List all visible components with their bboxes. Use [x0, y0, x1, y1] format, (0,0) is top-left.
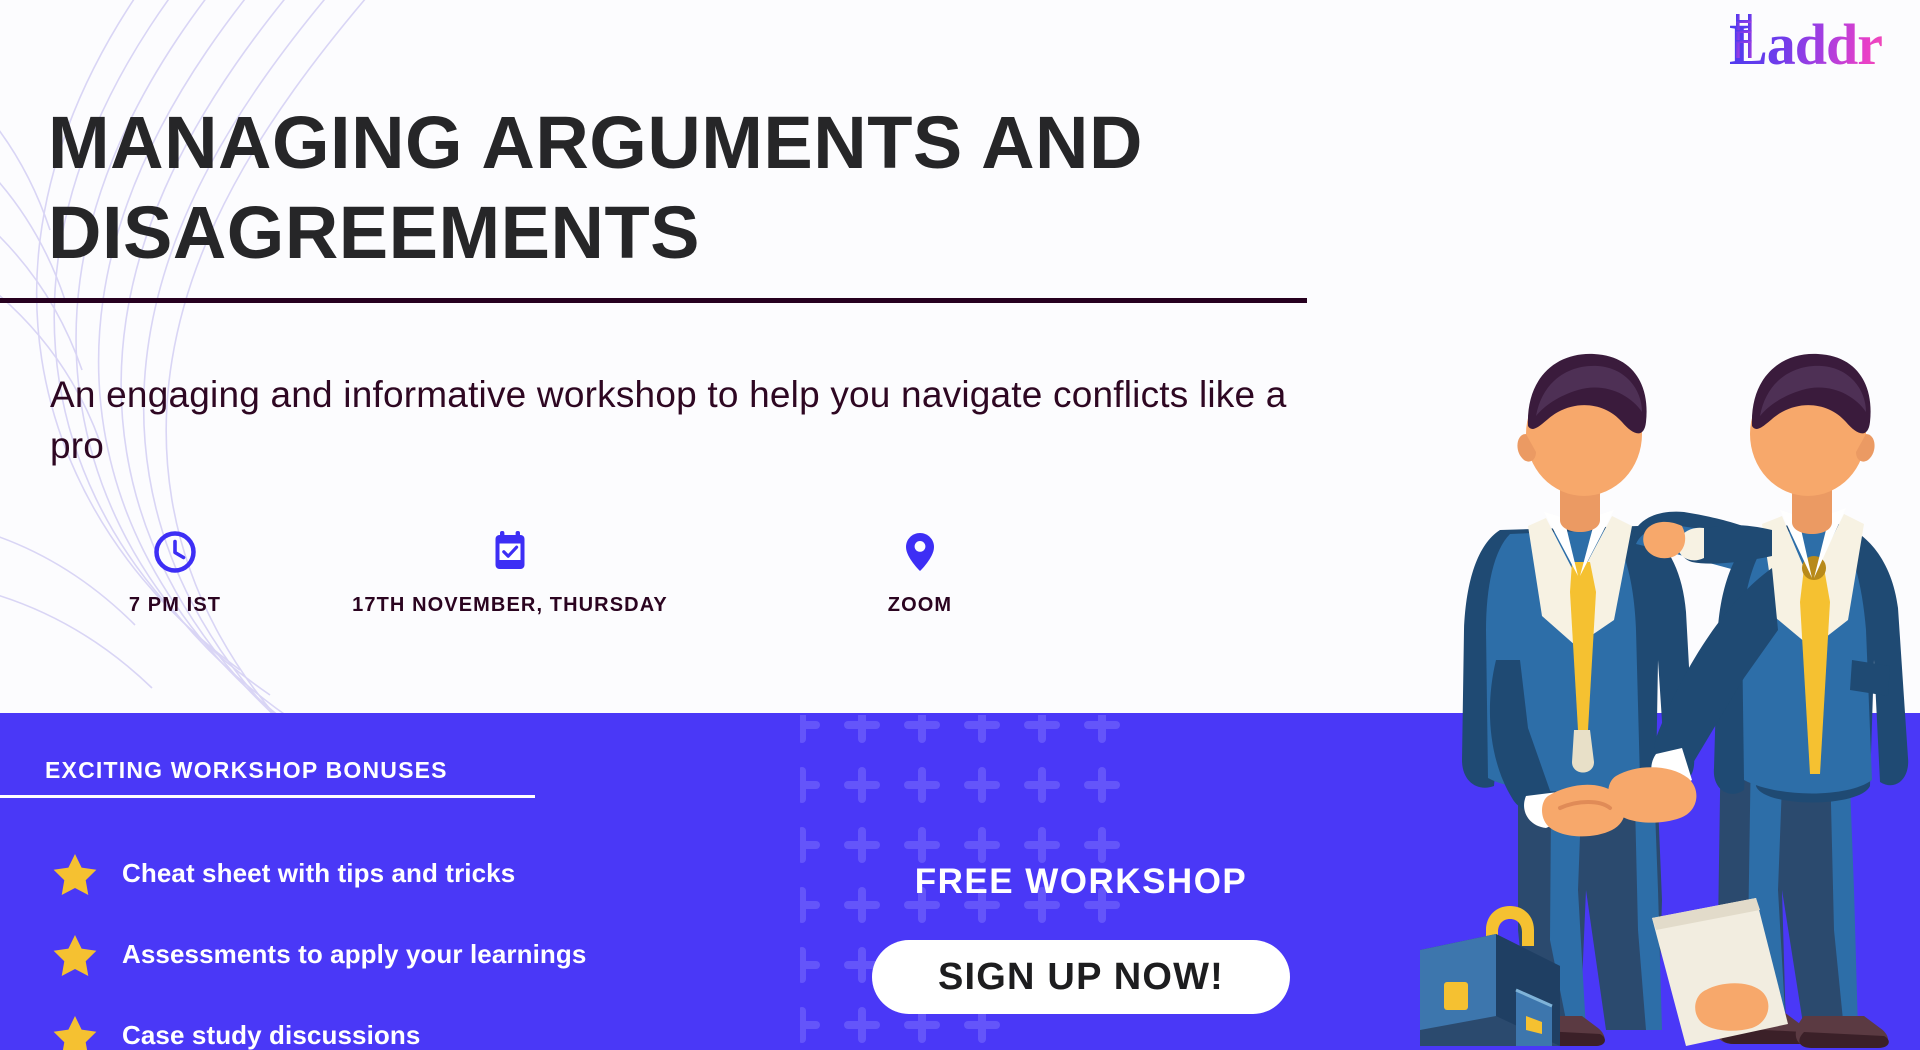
bonuses-list: Cheat sheet with tips and tricks Assessm…	[52, 833, 586, 1050]
list-item-label: Case study discussions	[122, 1020, 420, 1050]
meta-label-date: 17TH NOVEMBER, THURSDAY	[352, 592, 668, 620]
event-meta-row: 7 PM IST 17TH NOVEMBER, THURSDAY	[40, 528, 1200, 620]
star-icon	[52, 851, 98, 897]
workshop-promo-poster: Laddr MANAGING ARGUMENTS AND DISAGREEMEN…	[0, 0, 1920, 1050]
list-item-label: Cheat sheet with tips and tricks	[122, 858, 515, 889]
meta-label-location: ZOOM	[888, 592, 952, 620]
list-item: Cheat sheet with tips and tricks	[52, 833, 586, 914]
list-item: Case study discussions	[52, 995, 586, 1050]
clock-icon	[152, 528, 198, 576]
calendar-check-icon	[487, 528, 533, 576]
brand-logo[interactable]: Laddr	[1729, 16, 1882, 74]
sign-up-button[interactable]: SIGN UP NOW!	[872, 940, 1290, 1014]
page-title: MANAGING ARGUMENTS AND DISAGREEMENTS	[48, 98, 1338, 279]
location-pin-icon	[897, 528, 943, 576]
list-item: Assessments to apply your learnings	[52, 914, 586, 995]
meta-label-time: 7 PM IST	[129, 592, 221, 620]
ladder-icon	[1732, 14, 1758, 58]
meta-item-location: ZOOM	[710, 528, 1130, 620]
list-item-label: Assessments to apply your learnings	[122, 939, 586, 970]
meta-item-time: 7 PM IST	[40, 528, 310, 620]
bonuses-heading: EXCITING WORKSHOP BONUSES	[45, 757, 448, 784]
star-icon	[52, 932, 98, 978]
page-subtitle: An engaging and informative workshop to …	[50, 369, 1300, 471]
cta-heading: FREE WORKSHOP	[896, 862, 1266, 902]
title-divider	[0, 298, 1307, 303]
bonuses-heading-divider	[0, 795, 535, 798]
meta-item-date: 17TH NOVEMBER, THURSDAY	[310, 528, 710, 620]
star-icon	[52, 1013, 98, 1050]
